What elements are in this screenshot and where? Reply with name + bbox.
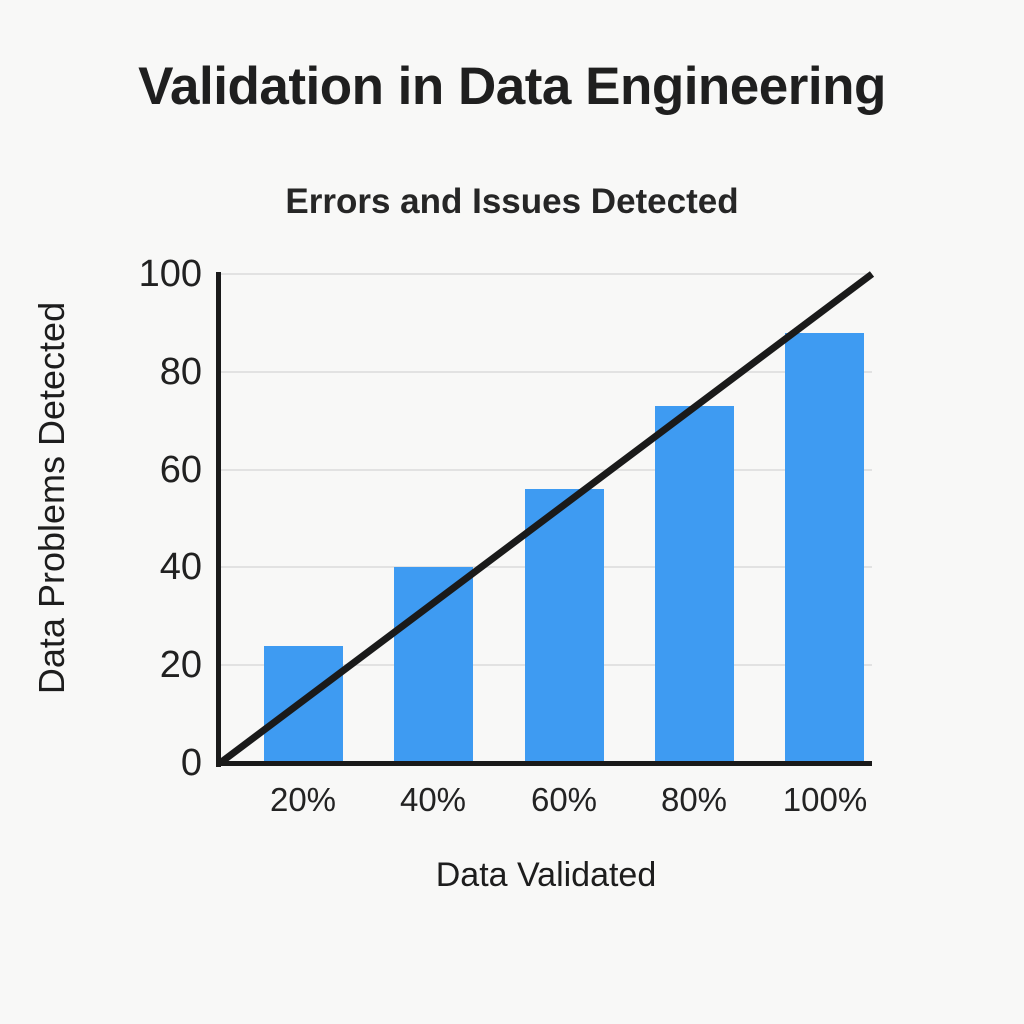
y-axis-line — [216, 272, 221, 767]
x-axis-line — [216, 761, 872, 766]
gridline — [220, 371, 872, 373]
bar — [264, 646, 343, 763]
y-axis-label: Data Problems Detected — [34, 248, 70, 748]
y-tick-label: 80 — [160, 353, 202, 391]
x-axis-label: Data Validated — [220, 858, 872, 892]
page-title: Validation in Data Engineering — [0, 58, 1024, 116]
x-tick-label: 80% — [629, 783, 759, 816]
plot-area — [220, 274, 872, 763]
y-tick-label: 40 — [160, 548, 202, 586]
bar — [394, 567, 473, 763]
bar — [525, 489, 604, 763]
x-tick-label: 20% — [238, 783, 368, 816]
chart-subtitle: Errors and Issues Detected — [0, 183, 1024, 222]
x-tick-label: 100% — [760, 783, 890, 816]
gridline — [220, 273, 872, 275]
bar — [785, 333, 864, 763]
x-tick-label: 40% — [368, 783, 498, 816]
bar — [655, 406, 734, 763]
y-tick-label: 100 — [139, 255, 202, 293]
x-tick-label: 60% — [499, 783, 629, 816]
gridline — [220, 469, 872, 471]
y-tick-label: 60 — [160, 451, 202, 489]
chart-figure: Validation in Data Engineering Errors an… — [0, 0, 1024, 1024]
x-axis-ticks: 20%40%60%80%100% — [220, 783, 872, 829]
y-tick-label: 20 — [160, 646, 202, 684]
y-tick-label: 0 — [181, 744, 202, 782]
